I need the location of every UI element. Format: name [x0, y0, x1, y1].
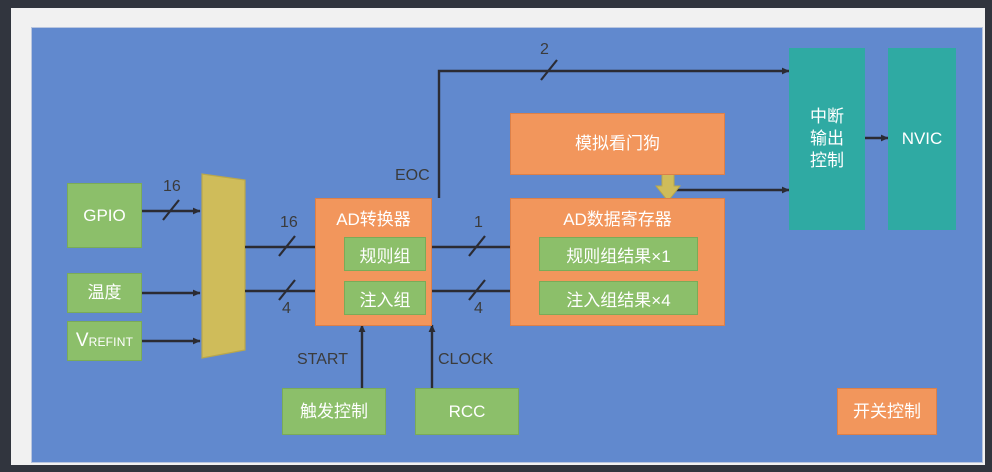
injected-group-block[interactable]: 注入组: [344, 281, 426, 315]
regular-result-label: 规则组结果×1: [566, 242, 670, 267]
trigger-control-block[interactable]: 触发控制: [282, 388, 386, 435]
ad-converter-group[interactable]: AD转换器 规则组 注入组: [315, 198, 432, 326]
temperature-sensor-block[interactable]: 温度: [67, 273, 142, 313]
regular-result-block[interactable]: 规则组结果×1: [539, 237, 698, 271]
interrupt-output-control-block[interactable]: 中断 输出 控制: [789, 48, 865, 230]
switch-control-label: 开关控制: [853, 402, 921, 422]
switch-control-block[interactable]: 开关控制: [837, 388, 937, 435]
regular-group-block[interactable]: 规则组: [344, 237, 426, 271]
diagram-canvas: GPIO 温度 VREFINT AD转换器 规则组 注入组: [31, 27, 983, 463]
rcc-label: RCC: [449, 402, 486, 422]
trigger-control-label: 触发控制: [300, 402, 368, 422]
ad-converter-title: AD转换器: [316, 205, 431, 230]
outer-frame: GPIO 温度 VREFINT AD转换器 规则组 注入组: [0, 0, 992, 472]
adc-out-regular-width-label: 1: [474, 214, 483, 232]
mux-out-injected-width-label: 4: [282, 300, 291, 318]
vrefint-prefix: V: [76, 330, 89, 351]
start-label: START: [297, 351, 348, 369]
vrefint-suffix: REFINT: [89, 335, 134, 349]
ad-data-register-title: AD数据寄存器: [511, 205, 724, 230]
nvic-block[interactable]: NVIC: [888, 48, 956, 230]
interrupt-output-control-label: 中断 输出 控制: [810, 106, 844, 171]
injected-result-block[interactable]: 注入组结果×4: [539, 281, 698, 315]
mux-out-regular-width-label: 16: [280, 214, 298, 232]
analog-watchdog-block[interactable]: 模拟看门狗: [510, 113, 725, 175]
vrefint-block[interactable]: VREFINT: [67, 321, 142, 361]
ad-data-register-group[interactable]: AD数据寄存器 规则组结果×1 注入组结果×4: [510, 198, 725, 326]
clock-label: CLOCK: [438, 351, 493, 369]
rcc-block[interactable]: RCC: [415, 388, 519, 435]
paper-background: GPIO 温度 VREFINT AD转换器 规则组 注入组: [11, 8, 985, 465]
watchdog-width-label: 2: [540, 41, 549, 59]
temperature-label: 温度: [88, 283, 122, 303]
injected-result-label: 注入组结果×4: [566, 286, 670, 311]
injected-group-label: 注入组: [360, 286, 411, 311]
nvic-label: NVIC: [902, 129, 943, 149]
gpio-block[interactable]: GPIO: [67, 183, 142, 248]
adc-out-injected-width-label: 4: [474, 300, 483, 318]
analog-watchdog-label: 模拟看门狗: [575, 134, 660, 154]
regular-group-label: 规则组: [360, 242, 411, 267]
gpio-width-label: 16: [163, 178, 181, 196]
eoc-label: EOC: [395, 167, 430, 185]
gpio-label: GPIO: [83, 206, 126, 226]
vrefint-label: VREFINT: [76, 330, 133, 352]
